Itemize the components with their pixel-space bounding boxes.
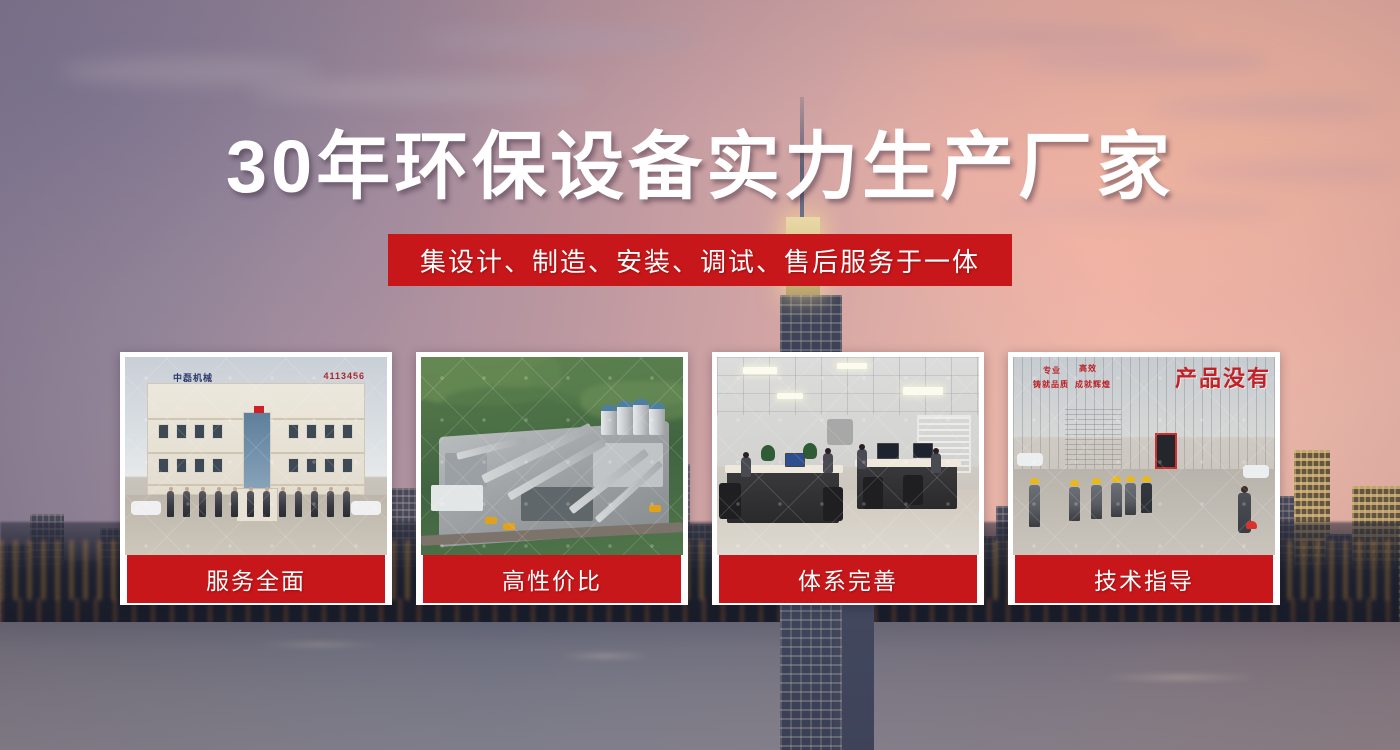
aerial-production-plant-photo <box>421 357 683 555</box>
subtitle-banner: 集设计、制造、安装、调试、售后服务于一体 <box>388 234 1012 286</box>
feature-card[interactable]: 体系完善 <box>712 352 984 605</box>
workers-training-photo: 产品没有 专业 高效 铸就品质 成就辉煌 <box>1013 357 1275 555</box>
card-caption-text: 服务全面 <box>206 562 306 596</box>
card-caption-bar: 服务全面 <box>125 555 387 605</box>
card-caption-bar: 体系完善 <box>717 555 979 605</box>
card-caption-text: 高性价比 <box>502 562 602 596</box>
subtitle-text: 集设计、制造、安装、调试、售后服务于一体 <box>420 242 980 279</box>
factory-slogan-1: 专业 <box>1043 365 1061 376</box>
building-phone-number: 4113456 <box>323 371 365 381</box>
building-sign-text: 中磊机械 <box>173 371 213 384</box>
factory-slogan-2: 高效 <box>1079 363 1097 374</box>
page-title: 30年环保设备实力生产厂家 <box>0 130 1400 204</box>
factory-slogan-3: 铸就品质 <box>1033 379 1069 390</box>
company-headquarters-photo: 中磊机械 4113456 <box>125 357 387 555</box>
feature-card[interactable]: 中磊机械 4113456 <box>120 352 392 605</box>
feature-card[interactable]: 产品没有 专业 高效 铸就品质 成就辉煌 <box>1008 352 1280 605</box>
card-caption-text: 技术指导 <box>1094 562 1194 596</box>
card-caption-text: 体系完善 <box>798 562 898 596</box>
factory-slogan-4: 成就辉煌 <box>1075 379 1111 390</box>
feature-card-list: 中磊机械 4113456 <box>120 352 1280 605</box>
feature-card[interactable]: 高性价比 <box>416 352 688 605</box>
card-caption-bar: 技术指导 <box>1013 555 1275 605</box>
hero-banner: 30年环保设备实力生产厂家 集设计、制造、安装、调试、售后服务于一体 <box>0 0 1400 750</box>
factory-banner-text: 产品没有 <box>1175 361 1271 393</box>
card-caption-bar: 高性价比 <box>421 555 683 605</box>
office-interior-photo <box>717 357 979 555</box>
